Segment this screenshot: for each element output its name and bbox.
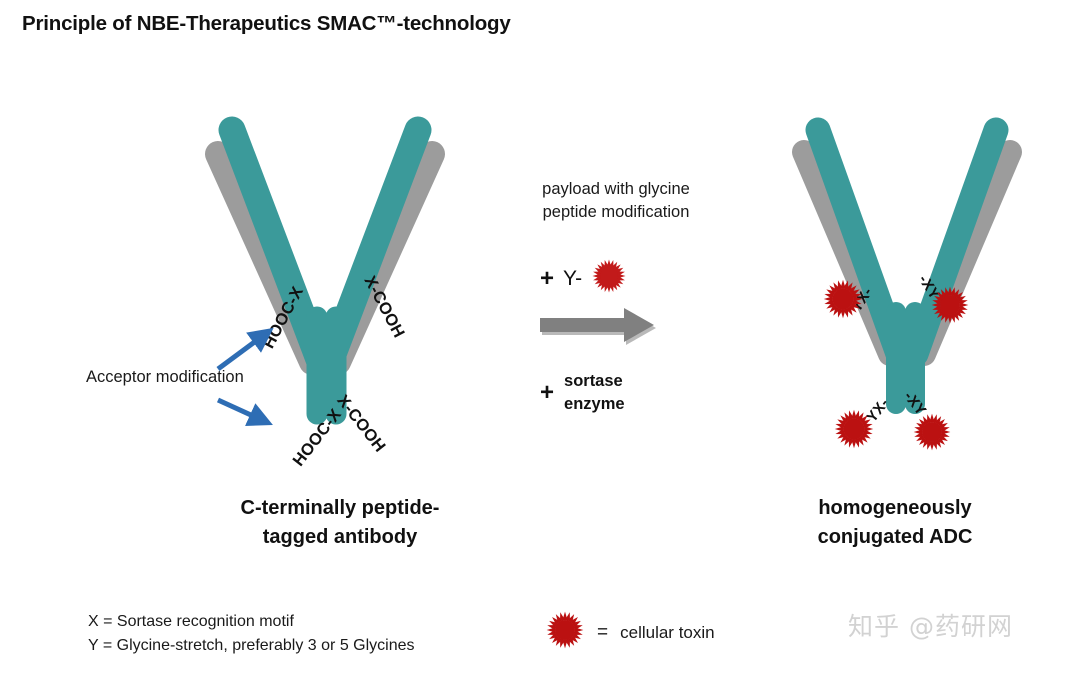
legend-toxin: = cellular toxin [545, 610, 715, 655]
toxin-icon-lower-left [833, 408, 875, 455]
antibody-stem [317, 317, 336, 414]
toxin-icon-lower-right [912, 412, 952, 457]
legend-toxin-label: cellular toxin [620, 623, 715, 643]
reagent-y-label: Y- [563, 267, 582, 291]
legend-definitions: X = Sortase recognition motif Y = Glycin… [88, 610, 415, 657]
plus-sign-sortase: + [540, 379, 554, 407]
caption-right-line2: conjugated ADC [770, 523, 1020, 552]
caption-right: homogeneously conjugated ADC [770, 494, 1020, 552]
antibody-right [762, 112, 1052, 472]
caption-left-line1: C-terminally peptide- [180, 494, 500, 523]
payload-line2: peptide modification [516, 201, 716, 224]
payload-line1: payload with glycine [516, 178, 716, 201]
legend-def-y: Y = Glycine-stretch, preferably 3 or 5 G… [88, 634, 415, 658]
payload-description: payload with glycine peptide modificatio… [516, 178, 716, 225]
sortase-line1: sortase [564, 370, 625, 393]
toxin-icon-upper-left [822, 278, 864, 325]
acceptor-arrow-up-icon [212, 325, 278, 380]
caption-left-line2: tagged antibody [180, 523, 500, 552]
page-title: Principle of NBE-Therapeutics SMAC™-tech… [22, 12, 511, 36]
plus-sign-reagent: + [540, 265, 554, 293]
sortase-enzyme-label: sortase enzyme [564, 370, 625, 416]
toxin-icon-upper-right [930, 285, 970, 330]
diagram-canvas: Principle of NBE-Therapeutics SMAC™-tech… [0, 0, 1080, 675]
legend-def-x: X = Sortase recognition motif [88, 610, 415, 634]
acceptor-arrow-down-icon [212, 392, 278, 441]
watermark: 知乎 @药研网 [848, 607, 1013, 643]
sortase-line2: enzyme [564, 393, 625, 416]
legend-equals-sign: = [597, 622, 608, 644]
toxin-icon-legend [545, 610, 585, 655]
toxin-icon-reagent [591, 258, 627, 300]
reaction-arrow-icon [540, 308, 665, 361]
caption-right-line1: homogeneously [770, 494, 1020, 523]
caption-left: C-terminally peptide- tagged antibody [180, 494, 500, 552]
sortase-enzyme-row: + sortase enzyme [540, 370, 625, 416]
reagent-row: + Y- [540, 258, 627, 300]
